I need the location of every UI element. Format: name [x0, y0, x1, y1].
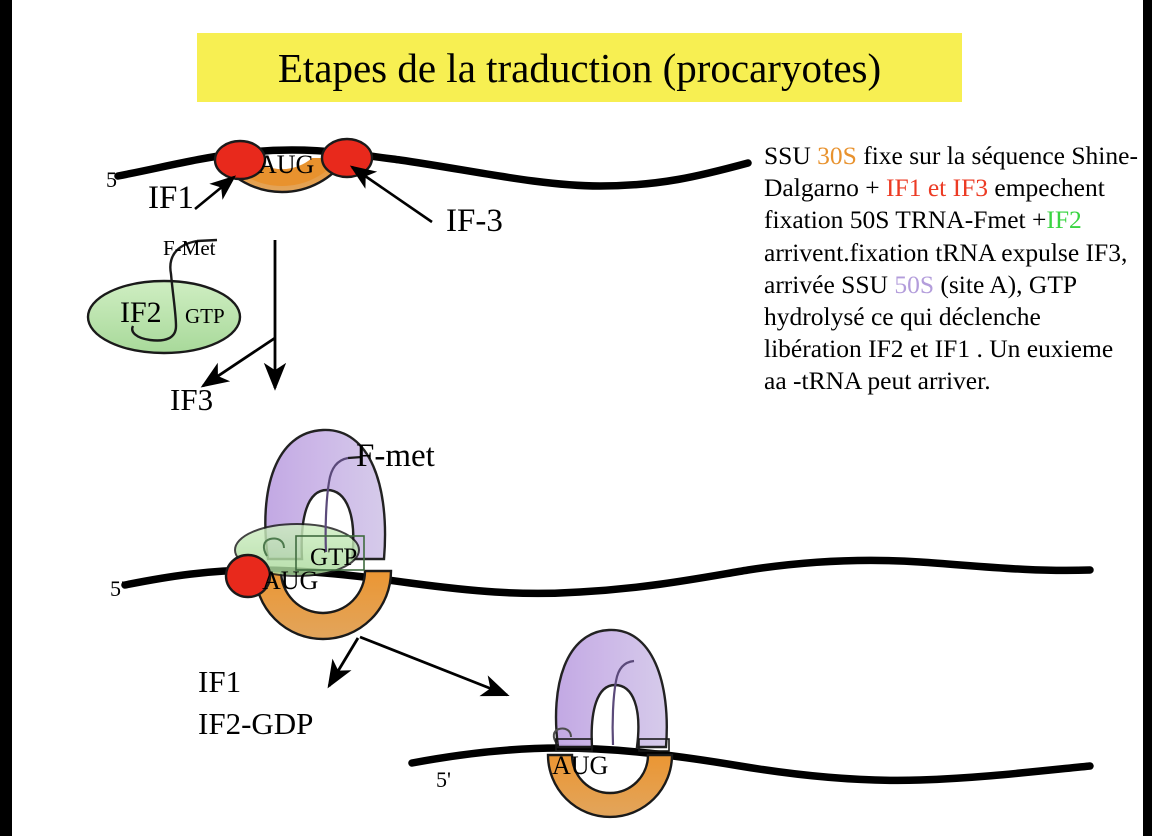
- annotation-seg-1: SSU: [764, 141, 817, 170]
- mrna-strand-top: [118, 150, 748, 186]
- label-if2-gdp-released: IF2-GDP: [198, 708, 313, 739]
- arrow-to-elongation: [360, 637, 507, 695]
- stage-middle-70s-complex: [125, 430, 1090, 639]
- label-if3-top: IF-3: [446, 205, 503, 238]
- label-start-codon-bottom: AUG: [552, 753, 608, 779]
- stage-bottom-70s-ready: [412, 630, 1090, 817]
- lsu-50s-bottom: [556, 630, 667, 747]
- annotation-50s: 50S: [894, 270, 934, 299]
- label-if2-ternary: IF2: [120, 298, 162, 328]
- annotation-if2: IF2: [1046, 205, 1081, 234]
- label-if3-released: IF3: [170, 384, 213, 415]
- label-if1-released: IF1: [198, 666, 241, 697]
- stage-top-initiation-complex: [118, 139, 748, 222]
- diagram-layer: [0, 0, 1152, 836]
- label-5prime-bottom: 5': [436, 769, 451, 791]
- annotation-paragraph: SSU 30S fixe sur la séquence Shine-Dalga…: [764, 140, 1138, 398]
- ternary-complex-if2-gtp: [88, 240, 275, 388]
- label-5prime-middle: 5': [110, 578, 125, 600]
- stage-transition-arrows: [329, 637, 507, 695]
- label-fmet-ternary: F-Met: [163, 238, 216, 259]
- if3-pointer-arrow: [352, 167, 432, 222]
- if3-marker-top: [322, 139, 372, 177]
- label-gtp-ternary: GTP: [185, 306, 225, 327]
- annotation-30s: 30S: [817, 141, 857, 170]
- label-start-codon-middle: AUG: [262, 568, 318, 594]
- annotation-if1-if3: IF1 et IF3: [886, 173, 988, 202]
- mrna-strand-bottom: [412, 748, 1090, 780]
- slide-canvas: Etapes de la traduction (procaryotes): [0, 0, 1152, 836]
- if1-pointer-arrow: [195, 177, 234, 209]
- label-fmet-middle: F-met: [356, 440, 435, 473]
- arrow-release-factors: [329, 638, 358, 686]
- label-5prime-top: 5': [106, 169, 121, 191]
- label-if1-top: IF1: [148, 182, 194, 215]
- label-start-codon-top: AUG: [258, 152, 314, 178]
